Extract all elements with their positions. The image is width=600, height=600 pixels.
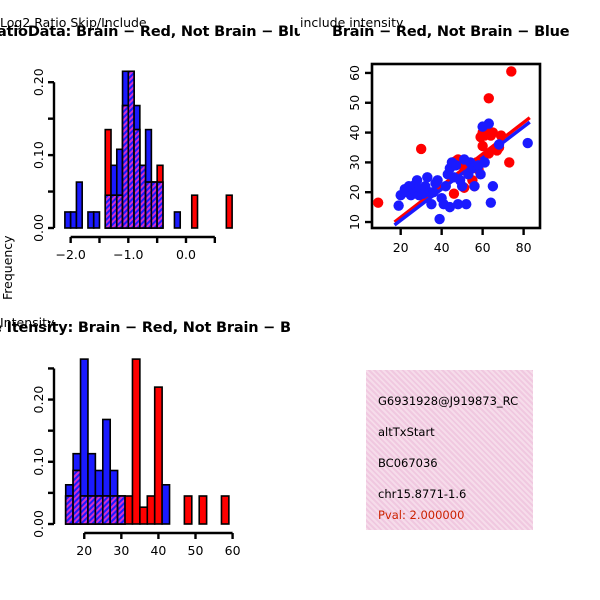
x-tick-label: 30 xyxy=(113,543,129,558)
scatter-point xyxy=(445,202,455,212)
scatter-point xyxy=(506,66,516,76)
scatter-point xyxy=(484,118,494,128)
hist-bar-brain xyxy=(221,496,228,524)
y-tick-label: 0.20 xyxy=(31,386,46,414)
ratio-histogram-title-clip: RatioData: Brain − Red, Not Brain − Blu xyxy=(0,24,300,48)
hist-bar-brain xyxy=(192,195,198,228)
hist-bar-overlap xyxy=(73,470,80,524)
hist-bar-not-brain xyxy=(65,212,71,228)
hist-bar-overlap xyxy=(111,195,117,228)
gene-info-line-pvalue: Pval: 2.000000 xyxy=(378,508,464,522)
y-tick-label: 50 xyxy=(347,95,362,111)
scatter-point xyxy=(428,187,438,197)
scatter-point xyxy=(461,199,471,209)
y-tick-label: 0.10 xyxy=(31,448,46,476)
hist-bar-brain xyxy=(147,496,154,524)
intensity-histogram-ylabel: Frequency xyxy=(0,0,15,300)
ratio-histogram-plot: 0.000.100.20−2.0−1.00.0 xyxy=(0,50,300,300)
y-tick-label: 30 xyxy=(347,154,362,170)
x-tick-label: 60 xyxy=(225,543,241,558)
hist-bar-overlap xyxy=(95,496,102,524)
ratio-histogram-panel: RatioData: Brain − Red, Not Brain − Blu … xyxy=(0,0,300,310)
scatter-point xyxy=(494,139,504,149)
hist-bar-not-brain xyxy=(71,212,77,228)
x-tick-label: 0.0 xyxy=(176,247,196,262)
hist-bar-overlap xyxy=(118,496,125,524)
intensity-scatter-panel: Brain − Red, Not Brain − Blue skip inten… xyxy=(300,0,600,310)
x-tick-label: 60 xyxy=(475,240,491,255)
intensity-histogram-title: ne Itensity: Brain − Red, Not Brain − B xyxy=(0,320,291,336)
scatter-point xyxy=(486,197,496,207)
scatter-point xyxy=(416,144,426,154)
y-tick-label: 40 xyxy=(347,125,362,141)
y-tick-label: 0.00 xyxy=(31,214,46,242)
scatter-point xyxy=(479,157,489,167)
intensity-histogram-title-clip: ne Itensity: Brain − Red, Not Brain − B xyxy=(0,320,300,344)
scatter-point xyxy=(449,189,459,199)
scatter-point xyxy=(523,138,533,148)
hist-bar-overlap xyxy=(88,496,95,524)
x-tick-label: 40 xyxy=(150,543,166,558)
hist-bar-not-brain xyxy=(76,182,82,228)
hist-bar-overlap xyxy=(110,496,117,524)
scatter-point xyxy=(484,93,494,103)
hist-bar-overlap xyxy=(117,195,123,228)
hist-bar-not-brain xyxy=(88,212,94,228)
hist-bar-brain xyxy=(155,387,162,524)
hist-bar-overlap xyxy=(146,182,152,228)
y-tick-label: 20 xyxy=(347,184,362,200)
scatter-point xyxy=(475,169,485,179)
hist-bar-overlap xyxy=(105,195,111,228)
x-tick-label: −2.0 xyxy=(55,247,85,262)
gene-info-panel: G6931928@J919873_RC altTxStart BC067036 … xyxy=(300,300,600,600)
hist-bar-brain xyxy=(140,507,147,524)
scatter-point xyxy=(457,181,467,191)
hist-bar-overlap xyxy=(157,182,163,228)
x-tick-label: 20 xyxy=(393,240,409,255)
hist-bar-overlap xyxy=(123,106,129,228)
y-tick-label: 0.00 xyxy=(31,510,46,538)
intensity-histogram-plot: 0.000.100.202030405060 xyxy=(0,346,300,586)
hist-bar-overlap xyxy=(81,496,88,524)
gene-info-line-probe-id: G6931928@J919873_RC xyxy=(378,394,518,408)
hist-bar-brain xyxy=(199,496,206,524)
hist-bar-not-brain xyxy=(94,212,100,228)
x-tick-label: 20 xyxy=(76,543,92,558)
scatter-point xyxy=(441,181,451,191)
hist-bar-brain xyxy=(132,359,139,524)
hist-bar-overlap xyxy=(128,71,134,228)
hist-bar-overlap xyxy=(134,130,140,228)
gene-info-line-event-type: altTxStart xyxy=(378,425,435,439)
hist-bar-overlap xyxy=(103,496,110,524)
hist-bar-overlap xyxy=(66,496,73,524)
x-tick-label: −1.0 xyxy=(113,247,143,262)
scatter-point xyxy=(496,130,506,140)
regression-line xyxy=(395,122,530,225)
intensity-histogram-panel: ne Itensity: Brain − Red, Not Brain − B … xyxy=(0,300,300,600)
scatter-point xyxy=(426,199,436,209)
scatter-point xyxy=(393,200,403,210)
scatter-title: Brain − Red, Not Brain − Blue xyxy=(332,24,569,40)
x-tick-label: 80 xyxy=(516,240,532,255)
hist-bar-not-brain xyxy=(174,212,180,228)
hist-bar-overlap xyxy=(140,165,146,228)
gene-info-line-accession: BC067036 xyxy=(378,456,438,470)
scatter-point xyxy=(373,197,383,207)
ratio-histogram-title: RatioData: Brain − Red, Not Brain − Blu xyxy=(0,24,300,40)
scatter-point xyxy=(488,181,498,191)
gene-info-line-locus: chr15.8771-1.6 xyxy=(378,487,466,501)
y-tick-label: 0.10 xyxy=(31,141,46,169)
hist-bar-brain xyxy=(184,496,191,524)
gene-info-text-clip: G6931928@J919873_RC altTxStart BC067036 … xyxy=(366,370,533,530)
x-tick-label: 50 xyxy=(188,543,204,558)
hist-bar-overlap xyxy=(151,182,157,228)
hist-bar-not-brain xyxy=(162,485,169,524)
scatter-point xyxy=(434,214,444,224)
scatter-plot: 10203040506020406080 xyxy=(300,50,600,300)
y-tick-label: 10 xyxy=(347,214,362,230)
scatter-point xyxy=(469,181,479,191)
y-tick-label: 60 xyxy=(347,65,362,81)
hist-bar-brain xyxy=(125,496,132,524)
scatter-point xyxy=(504,157,514,167)
hist-bar-brain xyxy=(226,195,232,228)
x-tick-label: 40 xyxy=(434,240,450,255)
y-tick-label: 0.20 xyxy=(31,68,46,96)
